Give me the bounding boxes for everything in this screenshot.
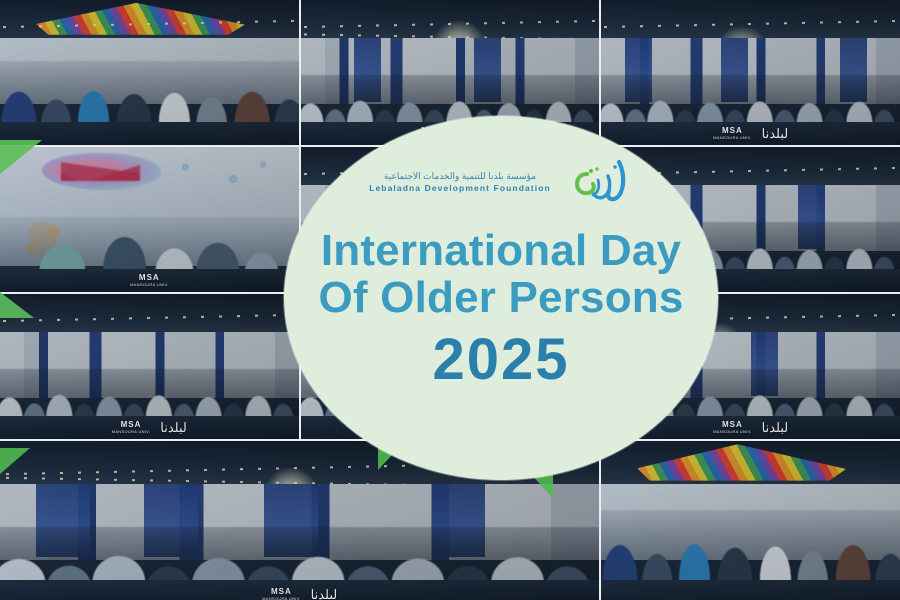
event-year: 2025 — [432, 331, 569, 389]
event-poster: MSA MANSOURA UNIV. لبلدنا — [0, 0, 900, 600]
photo-bottom-right — [601, 441, 900, 600]
organization-name-english: Lebaladna Development Foundation — [369, 183, 551, 194]
photo-mid-left: MSA MANSOURA UNIV. — [0, 147, 299, 292]
lebaladna-arabic-calligraphy-logo — [567, 158, 633, 206]
photo-top-right: MSA MANSOURA UNIV. لبلدنا — [601, 0, 900, 145]
photo-lower-left: MSA MANSOURA UNIV. لبلدنا — [0, 294, 299, 439]
organization-name-arabic: مؤسسة بلدنا للتنمية والخدمات الاجتماعية — [369, 171, 551, 182]
page-title: International Day Of Older Persons — [318, 228, 683, 321]
title-line-2: Of Older Persons — [318, 275, 683, 322]
content-oval-panel: مؤسسة بلدنا للتنمية والخدمات الاجتماعية … — [284, 116, 718, 480]
photo-top-left — [0, 0, 299, 145]
title-line-1: International Day — [321, 226, 681, 275]
organization-logo: مؤسسة بلدنا للتنمية والخدمات الاجتماعية … — [369, 162, 633, 202]
organization-name: مؤسسة بلدنا للتنمية والخدمات الاجتماعية … — [369, 171, 551, 194]
